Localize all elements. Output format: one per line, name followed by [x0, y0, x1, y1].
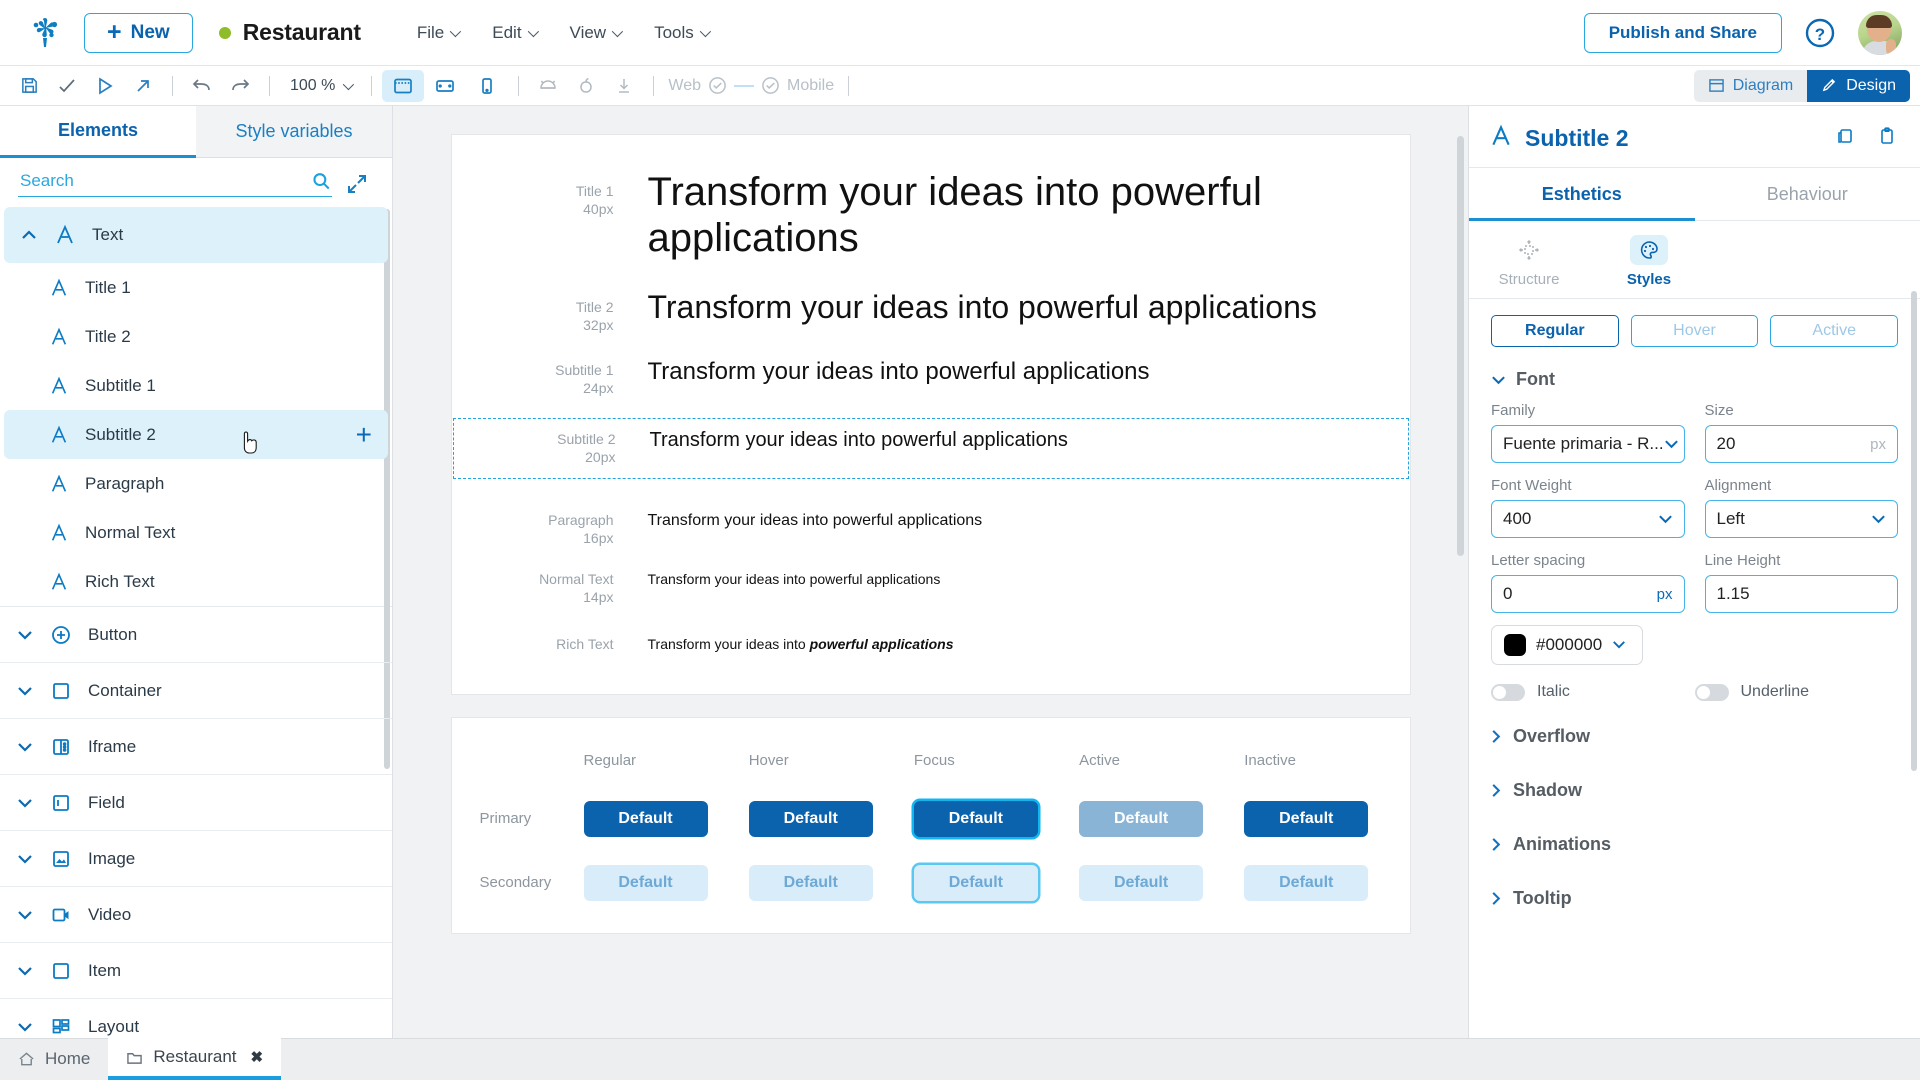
header-actions	[1834, 125, 1898, 152]
font-row-2: Font Weight 400 Alignment Left	[1491, 477, 1898, 538]
font-size-label: Size	[1705, 402, 1899, 419]
text-a-icon	[52, 224, 78, 246]
typography-size: 32px	[478, 317, 614, 335]
project-name: Restaurant	[243, 19, 361, 46]
column-header-inactive: Inactive	[1244, 744, 1409, 795]
text-a-icon	[1489, 124, 1513, 153]
list-item-label: Rich Text	[85, 572, 155, 592]
column-header-active: Active	[1079, 744, 1244, 795]
chevron-down-icon	[450, 25, 461, 36]
publish-and-share-button[interactable]: Publish and Share	[1584, 13, 1782, 53]
divider	[371, 76, 372, 96]
square-icon	[48, 680, 74, 702]
font-size-value: 20	[1717, 434, 1736, 454]
primary-regular-button[interactable]: Default	[584, 801, 708, 837]
table-row-primary: Primary Default Default Default Default …	[452, 795, 1410, 859]
typography-size: 16px	[478, 530, 614, 548]
app-logo[interactable]	[22, 10, 68, 56]
structure-icon	[1510, 235, 1548, 265]
view-mode-toggle: Diagram Design	[1694, 70, 1910, 102]
tab-design[interactable]: Design	[1807, 70, 1910, 102]
zoom-level-select[interactable]: 100 %	[280, 77, 361, 95]
chevron-down-icon	[16, 630, 34, 640]
save-icon[interactable]	[10, 69, 48, 103]
chevron-down-icon	[612, 25, 623, 36]
typography-size: 24px	[478, 380, 614, 398]
menu-view-label: View	[570, 23, 607, 43]
typography-size: 20px	[480, 449, 616, 467]
italic-toggle-cell: Italic	[1491, 683, 1695, 701]
section-tooltip[interactable]: Tooltip	[1491, 871, 1898, 925]
desktop-icon[interactable]	[382, 70, 424, 102]
rich-text-plain: Transform your ideas into	[648, 636, 810, 652]
text-a-icon	[46, 474, 72, 494]
color-row: #000000	[1469, 621, 1920, 665]
letter-spacing-unit: px	[1657, 586, 1673, 603]
typography-sample: Transform your ideas into powerful appli…	[648, 571, 1384, 587]
font-section-title: Font	[1516, 369, 1555, 390]
collapsed-sections: Overflow Shadow Animations Tooltip	[1469, 707, 1920, 927]
underline-label: Underline	[1741, 683, 1809, 701]
chevron-down-icon	[343, 78, 354, 89]
menu-file-label: File	[417, 23, 444, 43]
chevron-down-icon	[527, 25, 538, 36]
divider	[269, 76, 270, 96]
group-label-iframe: Iframe	[88, 737, 136, 757]
font-weight-value: 400	[1503, 509, 1531, 529]
avatar[interactable]	[1858, 11, 1902, 55]
list-item-paragraph[interactable]: Paragraph	[0, 459, 392, 508]
list-item-title-2[interactable]: Title 2	[0, 312, 392, 361]
font-section-header[interactable]: Font	[1469, 355, 1920, 396]
font-family-field: Family Fuente primaria - R...	[1491, 402, 1685, 463]
typography-row-subtitle-2[interactable]: Subtitle 2 20px Transform your ideas int…	[454, 419, 1408, 478]
line-height-input[interactable]: 1.15	[1705, 575, 1899, 613]
subtab-structure-label: Structure	[1499, 271, 1560, 288]
text-a-icon	[46, 425, 72, 445]
platform-web-label: Web	[668, 77, 701, 95]
bottom-tab-restaurant-label: Restaurant	[153, 1047, 236, 1067]
font-weight-label: Font Weight	[1491, 477, 1685, 494]
typography-name: Subtitle 1	[478, 362, 614, 380]
letter-spacing-input[interactable]: 0 px	[1491, 575, 1685, 613]
field-icon	[48, 792, 74, 814]
color-hex-value: #000000	[1536, 635, 1602, 655]
copy-icon[interactable]	[1834, 125, 1856, 152]
platform-toggle[interactable]: Web Mobile	[664, 76, 838, 95]
text-style-toggles: Italic Underline	[1469, 665, 1920, 707]
undo-icon[interactable]	[183, 69, 221, 103]
font-controls: Family Fuente primaria - R... Size 20	[1469, 396, 1920, 621]
diagram-icon	[1708, 78, 1725, 93]
chevron-down-icon	[16, 742, 34, 752]
text-a-icon	[46, 327, 72, 347]
list-item-label: Subtitle 2	[85, 425, 156, 445]
chevron-down-icon	[1491, 375, 1506, 385]
group-header-text[interactable]: Text	[4, 207, 388, 263]
typography-sample: Transform your ideas into powerful appli…	[648, 358, 1384, 386]
typography-label: Subtitle 2 20px	[480, 429, 650, 466]
group-header-layout[interactable]: Layout	[0, 999, 392, 1038]
group-label-layout: Layout	[88, 1017, 139, 1037]
typography-sample: Transform your ideas into powerful appli…	[648, 169, 1384, 261]
avatar-hair	[1866, 15, 1892, 28]
bottom-tab-restaurant[interactable]: Restaurant ✖	[108, 1038, 281, 1080]
section-shadow-label: Shadow	[1513, 780, 1582, 801]
typography-label: Rich Text	[478, 636, 648, 654]
font-weight-select[interactable]: 400	[1491, 500, 1685, 538]
paste-icon[interactable]	[1876, 125, 1898, 152]
group-label-button: Button	[88, 625, 137, 645]
bottom-tab-home-label: Home	[45, 1049, 90, 1069]
buttons-card: Regular Hover Focus Active Inactive Prim…	[451, 717, 1411, 934]
apple-icon[interactable]	[567, 69, 605, 103]
font-row-1: Family Fuente primaria - R... Size 20	[1491, 402, 1898, 463]
group-label-video: Video	[88, 905, 131, 925]
font-size-unit: px	[1870, 436, 1886, 453]
group-label-text: Text	[92, 225, 123, 245]
chevron-right-icon	[1491, 891, 1501, 906]
tab-behaviour[interactable]: Behaviour	[1695, 168, 1920, 221]
app-root: + New Restaurant File Edit View Tools	[0, 0, 1920, 1080]
italic-toggle[interactable]	[1491, 684, 1525, 701]
typography-sample: Transform your ideas into powerful appli…	[648, 636, 1384, 652]
font-family-label: Family	[1491, 402, 1685, 419]
close-icon[interactable]: ✖	[251, 1048, 264, 1066]
share-export-icon[interactable]	[124, 69, 162, 103]
divider	[172, 76, 173, 96]
typography-row-normal-text[interactable]: Normal Text 14px Transform your ideas in…	[452, 571, 1410, 636]
group-header-iframe[interactable]: Iframe	[0, 719, 392, 775]
right-panel: Subtitle 2 Esthetics Beha	[1468, 106, 1920, 1038]
expand-icon[interactable]	[344, 171, 370, 197]
svg-text:?: ?	[1815, 25, 1825, 44]
tablet-icon[interactable]	[424, 70, 466, 102]
alignment-select[interactable]: Left	[1705, 500, 1899, 538]
list-item-label: Title 1	[85, 278, 131, 298]
status-dot	[219, 27, 231, 39]
letter-spacing-label: Letter spacing	[1491, 552, 1685, 569]
section-animations[interactable]: Animations	[1491, 817, 1898, 871]
check-circle-icon	[761, 76, 780, 95]
element-list[interactable]: Text Title 1 Title 2	[0, 203, 392, 1038]
table-corner	[452, 744, 584, 795]
typography-card: Title 1 40px Transform your ideas into p…	[451, 134, 1411, 695]
typography-name: Paragraph	[478, 512, 614, 530]
font-size-field: Size 20 px	[1705, 402, 1899, 463]
letter-spacing-field: Letter spacing 0 px	[1491, 552, 1685, 613]
underline-toggle-cell: Underline	[1695, 683, 1899, 701]
line-height-field: Line Height 1.15	[1705, 552, 1899, 613]
typography-row-subtitle-1[interactable]: Subtitle 1 24px Transform your ideas int…	[452, 358, 1410, 419]
right-panel-header: Subtitle 2	[1469, 106, 1920, 167]
color-swatch	[1504, 634, 1526, 656]
plus-circle-icon	[48, 624, 74, 646]
chevron-down-icon	[700, 25, 711, 36]
column-header-regular: Regular	[584, 744, 749, 795]
underline-toggle[interactable]	[1695, 684, 1729, 701]
chevron-down-icon	[16, 798, 34, 808]
typography-label: Paragraph 16px	[478, 512, 648, 547]
line-height-label: Line Height	[1705, 552, 1899, 569]
state-active-button[interactable]: Active	[1770, 315, 1898, 347]
list-item-normal-text[interactable]: Normal Text	[0, 508, 392, 557]
redo-icon[interactable]	[221, 69, 259, 103]
section-overflow[interactable]: Overflow	[1491, 709, 1898, 763]
design-pencil-icon	[1821, 78, 1838, 93]
rich-text-emphasis: powerful applications	[810, 636, 954, 652]
section-animations-label: Animations	[1513, 834, 1611, 855]
primary-hover-button[interactable]: Default	[749, 801, 873, 837]
video-icon	[48, 904, 74, 926]
subtab-styles[interactable]: Styles	[1589, 231, 1709, 298]
play-icon[interactable]	[86, 69, 124, 103]
platform-mobile-label: Mobile	[787, 77, 834, 95]
primary-active-button[interactable]: Default	[1079, 801, 1203, 837]
page-title: Subtitle 2	[1525, 125, 1629, 152]
tab-esthetics[interactable]: Esthetics	[1469, 168, 1695, 221]
help-icon[interactable]: ?	[1804, 17, 1836, 49]
top-bar: + New Restaurant File Edit View Tools	[0, 0, 1920, 66]
list-item-rich-text[interactable]: Rich Text	[0, 557, 392, 606]
folder-icon	[126, 1050, 143, 1065]
new-button[interactable]: + New	[84, 13, 193, 53]
letter-spacing-value: 0	[1503, 584, 1512, 604]
tab-design-label: Design	[1846, 77, 1896, 95]
chevron-down-icon	[16, 966, 34, 976]
subtab-structure[interactable]: Structure	[1469, 231, 1589, 298]
menu-edit[interactable]: Edit	[492, 23, 535, 43]
font-family-value: Fuente primaria - R...	[1503, 434, 1664, 454]
text-a-icon	[46, 376, 72, 396]
primary-inactive-button[interactable]: Default	[1244, 801, 1368, 837]
home-icon	[18, 1051, 35, 1067]
group-label-item: Item	[88, 961, 121, 981]
font-family-select[interactable]: Fuente primaria - R...	[1491, 425, 1685, 463]
typography-label: Normal Text 14px	[478, 571, 648, 606]
font-weight-field: Font Weight 400	[1491, 477, 1685, 538]
project-indicator[interactable]: Restaurant	[219, 19, 361, 46]
group-header-button[interactable]: Button	[0, 607, 392, 663]
menu-bar: File Edit View Tools	[417, 23, 708, 43]
typography-size: 40px	[478, 201, 614, 219]
right-panel-tabs: Esthetics Behaviour	[1469, 167, 1920, 221]
primary-focus-button[interactable]: Default	[914, 801, 1038, 837]
chevron-down-icon	[16, 910, 34, 920]
menu-tools-label: Tools	[654, 23, 694, 43]
list-item-label: Subtitle 1	[85, 376, 156, 396]
connector-line	[734, 85, 754, 87]
state-regular-button[interactable]: Regular	[1491, 315, 1619, 347]
search-box[interactable]	[18, 170, 332, 197]
menu-file[interactable]: File	[417, 23, 458, 43]
typography-name: Normal Text	[478, 571, 614, 589]
typography-label: Title 1 40px	[478, 169, 648, 218]
chevron-down-icon	[1658, 509, 1673, 529]
text-a-icon	[46, 523, 72, 543]
typography-row-rich-text[interactable]: Rich Text Transform your ideas into powe…	[452, 636, 1410, 660]
text-a-icon	[46, 278, 72, 298]
toolbar: 100 %	[0, 66, 1920, 106]
chevron-down-icon	[16, 854, 34, 864]
check-circle-icon	[708, 76, 727, 95]
secondary-regular-button[interactable]: Default	[584, 865, 708, 901]
list-item-subtitle-1[interactable]: Subtitle 1	[0, 361, 392, 410]
right-scrollbar-thumb[interactable]	[1911, 291, 1917, 771]
tab-style-variables[interactable]: Style variables	[196, 106, 392, 158]
row-label-primary: Primary	[452, 795, 584, 859]
left-panel-tabs: Elements Style variables	[0, 106, 392, 158]
android-icon[interactable]	[529, 69, 567, 103]
canvas-scrollbar-thumb[interactable]	[1457, 136, 1464, 556]
chevron-down-icon	[1664, 434, 1679, 454]
typography-label: Title 2 32px	[478, 289, 648, 334]
group-header-image[interactable]: Image	[0, 831, 392, 887]
tab-diagram[interactable]: Diagram	[1694, 70, 1807, 102]
divider	[518, 76, 519, 96]
typography-size: 14px	[478, 589, 614, 607]
chevron-down-icon	[16, 1022, 34, 1032]
table-row-secondary: Secondary Default Default Default Defaul…	[452, 859, 1410, 923]
section-shadow[interactable]: Shadow	[1491, 763, 1898, 817]
group-header-field[interactable]: Field	[0, 775, 392, 831]
typography-name: Title 1	[478, 183, 614, 201]
text-color-picker[interactable]: #000000	[1491, 625, 1643, 665]
avatar-arm	[1886, 39, 1896, 55]
divider	[653, 76, 654, 96]
square-icon	[48, 960, 74, 982]
list-item-label: Title 2	[85, 327, 131, 347]
button-states-table: Regular Hover Focus Active Inactive Prim…	[452, 744, 1410, 923]
tab-diagram-label: Diagram	[1733, 77, 1793, 95]
state-selector: Regular Hover Active	[1469, 299, 1920, 355]
column-header-hover: Hover	[749, 744, 914, 795]
chevron-down-icon	[1612, 636, 1626, 654]
typography-row-title-1[interactable]: Title 1 40px Transform your ideas into p…	[452, 169, 1410, 289]
search-icon	[311, 170, 332, 192]
bottom-tab-home[interactable]: Home	[0, 1038, 108, 1080]
canvas-area[interactable]: Title 1 40px Transform your ideas into p…	[393, 106, 1468, 1038]
text-a-icon	[46, 572, 72, 592]
typography-row-paragraph[interactable]: Paragraph 16px Transform your ideas into…	[452, 478, 1410, 571]
bottom-tab-bar: Home Restaurant ✖	[0, 1038, 1920, 1080]
search-input[interactable]	[18, 170, 311, 192]
tab-elements[interactable]: Elements	[0, 106, 196, 158]
group-header-video[interactable]: Video	[0, 887, 392, 943]
table-header-row: Regular Hover Focus Active Inactive	[452, 744, 1410, 795]
download-icon[interactable]	[605, 69, 643, 103]
typography-label: Subtitle 1 24px	[478, 358, 648, 397]
list-item-label: Normal Text	[85, 523, 175, 543]
plus-icon: +	[107, 20, 122, 45]
chevron-right-icon	[1491, 783, 1501, 798]
typography-sample: Transform your ideas into powerful appli…	[648, 512, 1384, 530]
line-height-value: 1.15	[1717, 584, 1750, 604]
mouse-cursor-icon	[242, 430, 262, 456]
group-label-field: Field	[88, 793, 125, 813]
menu-edit-label: Edit	[492, 23, 521, 43]
secondary-inactive-button[interactable]: Default	[1244, 865, 1368, 901]
section-tooltip-label: Tooltip	[1513, 888, 1572, 909]
sub-tabs: Structure Styles	[1469, 221, 1920, 299]
mobile-icon[interactable]	[466, 70, 508, 102]
list-item-title-1[interactable]: Title 1	[0, 263, 392, 312]
section-overflow-label: Overflow	[1513, 726, 1590, 747]
new-button-label: New	[131, 22, 170, 44]
list-item-label: Paragraph	[85, 474, 164, 494]
subtab-styles-label: Styles	[1627, 271, 1671, 288]
chevron-right-icon	[1491, 729, 1501, 744]
menu-tools[interactable]: Tools	[654, 23, 708, 43]
layout-icon	[48, 1016, 74, 1038]
palette-icon	[1630, 235, 1668, 265]
secondary-hover-button[interactable]: Default	[749, 865, 873, 901]
chevron-down-icon	[1871, 509, 1886, 529]
canvas-content: Title 1 40px Transform your ideas into p…	[451, 106, 1411, 1038]
group-label-container: Container	[88, 681, 162, 701]
state-hover-button[interactable]: Hover	[1631, 315, 1759, 347]
group-label-image: Image	[88, 849, 135, 869]
search-row	[0, 158, 392, 203]
typography-name: Rich Text	[478, 636, 614, 654]
italic-label: Italic	[1537, 683, 1570, 701]
group-header-item[interactable]: Item	[0, 943, 392, 999]
divider	[848, 76, 849, 96]
top-bar-right: Publish and Share ?	[1584, 11, 1902, 55]
typography-row-title-2[interactable]: Title 2 32px Transform your ideas into p…	[452, 289, 1410, 358]
column-header-focus: Focus	[914, 744, 1079, 795]
alignment-label: Alignment	[1705, 477, 1899, 494]
typography-sample: Transform your ideas into powerful appli…	[650, 429, 1382, 452]
group-header-container[interactable]: Container	[0, 663, 392, 719]
secondary-focus-button[interactable]: Default	[914, 865, 1038, 901]
font-row-3: Letter spacing 0 px Line Height 1.15	[1491, 552, 1898, 613]
typography-sample: Transform your ideas into powerful appli…	[648, 289, 1384, 327]
check-icon[interactable]	[48, 69, 86, 103]
typography-name: Subtitle 2	[480, 431, 616, 449]
left-panel: Elements Style variables	[0, 106, 393, 1038]
alignment-field: Alignment Left	[1705, 477, 1899, 538]
body: Elements Style variables	[0, 106, 1920, 1038]
row-label-secondary: Secondary	[452, 859, 584, 923]
chevron-down-icon	[16, 686, 34, 696]
font-size-input[interactable]: 20 px	[1705, 425, 1899, 463]
image-icon	[48, 848, 74, 870]
chevron-up-icon	[20, 230, 38, 240]
secondary-active-button[interactable]: Default	[1079, 865, 1203, 901]
alignment-value: Left	[1717, 509, 1745, 529]
menu-view[interactable]: View	[570, 23, 621, 43]
typography-name: Title 2	[478, 299, 614, 317]
zoom-level-value: 100 %	[290, 77, 335, 95]
add-element-button[interactable]: +	[356, 421, 372, 449]
iframe-icon	[48, 736, 74, 758]
chevron-right-icon	[1491, 837, 1501, 852]
list-item-subtitle-2[interactable]: Subtitle 2 +	[4, 410, 388, 459]
